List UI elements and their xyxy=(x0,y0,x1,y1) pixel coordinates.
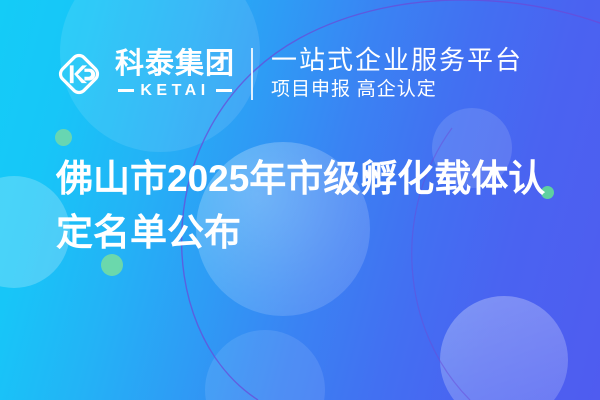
brand-name-cn: 科泰集团 xyxy=(115,49,235,79)
tagline-secondary: 项目申报 高企认定 xyxy=(271,78,523,103)
brand-wordmark: 科泰集团 KETAI xyxy=(115,49,235,98)
tagline-block: 一站式企业服务平台 项目申报 高企认定 xyxy=(271,45,523,103)
decor-circle-bottom-right xyxy=(440,296,568,400)
decor-circle-bottom-center xyxy=(205,330,325,400)
tagline-primary: 一站式企业服务平台 xyxy=(271,45,523,76)
dash-right-icon xyxy=(216,89,232,92)
header-divider xyxy=(251,48,253,100)
decor-dot-green-upper xyxy=(55,129,72,146)
brand-logo: 科泰集团 KETAI xyxy=(52,47,235,101)
page-title: 佛山市2025年市级孵化载体认定名单公布 xyxy=(56,152,566,259)
brand-name-en: KETAI xyxy=(140,83,209,99)
brand-name-en-row: KETAI xyxy=(118,83,231,99)
dash-left-icon xyxy=(118,89,134,92)
promo-banner: 科泰集团 KETAI 一站式企业服务平台 项目申报 高企认定 佛山市2025年市… xyxy=(0,0,600,400)
ketai-diamond-monogram-icon xyxy=(52,47,106,101)
banner-header: 科泰集团 KETAI 一站式企业服务平台 项目申报 高企认定 xyxy=(0,36,600,112)
